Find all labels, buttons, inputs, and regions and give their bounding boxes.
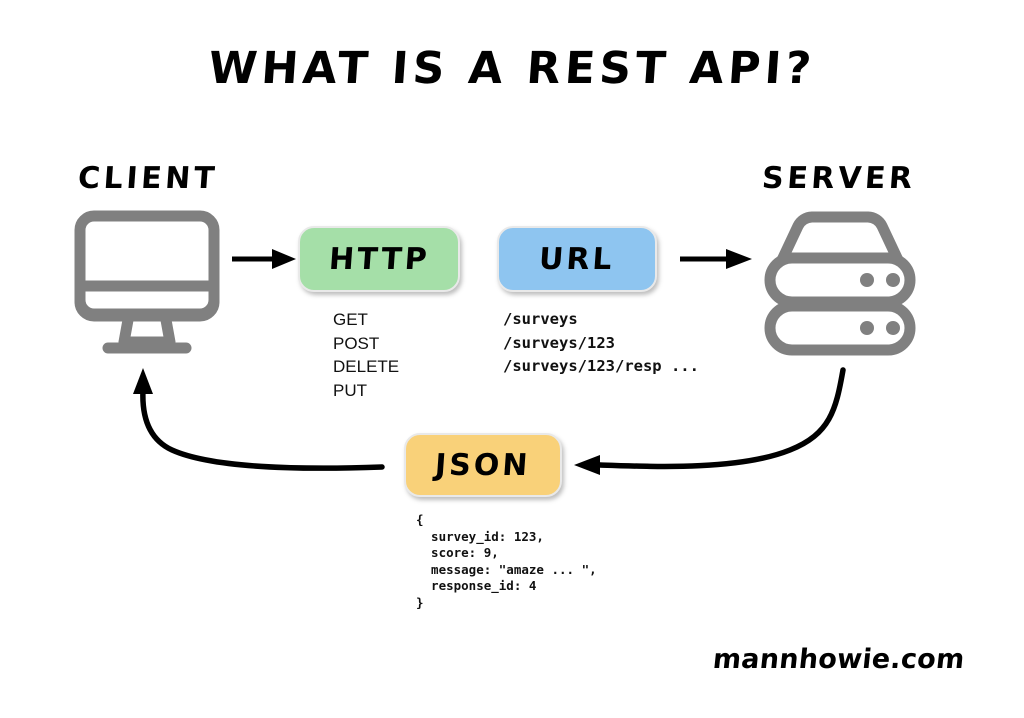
url-paths-list: /surveys /surveys/123 /surveys/123/resp …	[503, 308, 699, 379]
arrow-url-to-server-icon	[680, 249, 752, 269]
server-label: SERVER	[761, 162, 917, 196]
http-methods-list: GET POST DELETE PUT	[333, 308, 399, 402]
url-box[interactable]: URL	[497, 226, 657, 292]
json-response-body: { survey_id: 123, score: 9, message: "am…	[416, 512, 597, 611]
http-box-label: HTTP	[327, 242, 430, 277]
http-box[interactable]: HTTP	[298, 226, 460, 292]
json-box-label: JSON	[434, 448, 532, 483]
json-box[interactable]: JSON	[404, 433, 562, 497]
curved-arrow-server-to-json-icon	[574, 370, 843, 475]
watermark: mannhowie.com	[711, 644, 966, 675]
page-title: WHAT IS A REST API?	[0, 44, 1024, 94]
arrow-client-to-http-icon	[232, 249, 296, 269]
desktop-monitor-icon	[80, 216, 214, 348]
client-label: CLIENT	[77, 162, 219, 196]
url-box-label: URL	[538, 242, 616, 277]
